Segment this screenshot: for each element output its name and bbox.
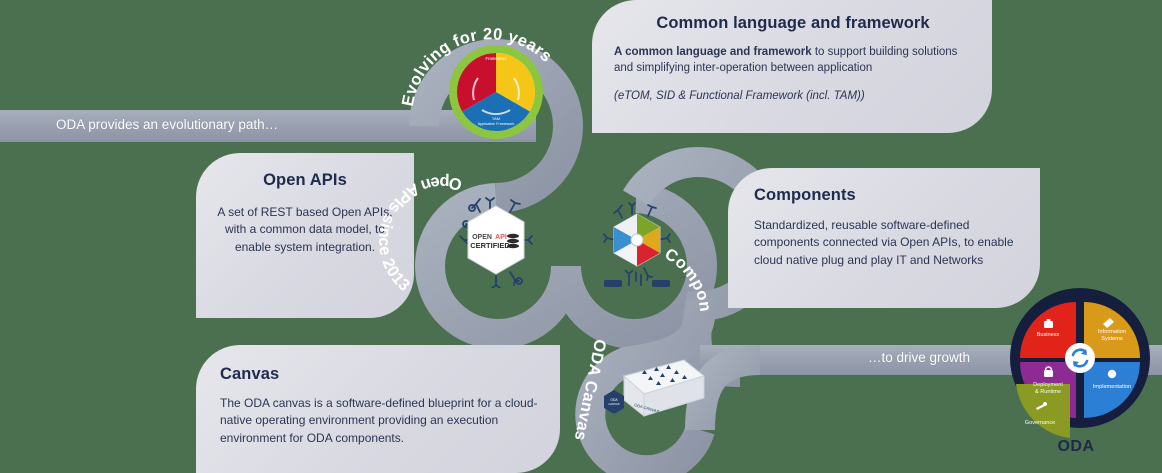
banner-evolutionary-path: ODA provides an evolutionary path… — [56, 117, 278, 132]
ribbon-curved-labels: Evolving for 20 years Open APIs since 20… — [0, 0, 1162, 473]
components-base-glyph — [604, 270, 670, 287]
svg-text:Systems: Systems — [1101, 336, 1123, 342]
svg-text:Application Framework: Application Framework — [478, 122, 515, 126]
frameworx-wheel-icon[interactable]: Frameworx TAM Application Framework — [448, 44, 544, 140]
oda-label-implementation: Implementation — [1093, 384, 1131, 390]
open-api-line1-plain: OPEN — [472, 234, 492, 241]
oda-label-information-systems: Information — [1098, 329, 1126, 335]
oda-center-disc — [1065, 343, 1095, 373]
svg-text:& Runtime: & Runtime — [1035, 389, 1061, 395]
open-api-stack-glyph — [507, 234, 519, 248]
oda-label-deployment-runtime: Deployment — [1033, 382, 1063, 388]
oda-label-governance: Governance — [1025, 420, 1055, 426]
oda-components-hexagon-icon[interactable] — [596, 200, 678, 292]
banner-drive-growth: …to drive growth — [868, 350, 970, 365]
svg-text:TAM: TAM — [492, 116, 500, 121]
open-api-certified-hexagon-icon[interactable]: OPEN API CERTIFIED — [452, 196, 540, 288]
oda-canvas-platform-icon[interactable]: ODA CANVAS ODA CANVAS — [590, 352, 708, 432]
oda-wheel-icon[interactable]: Business Information Systems Implementat… — [1000, 288, 1152, 440]
oda-wheel-caption: ODA — [1000, 438, 1152, 456]
diagram-canvas: Evolving for 20 years Open APIs since 20… — [0, 0, 1162, 473]
open-api-line1-accent: API — [495, 234, 507, 241]
oda-label-business: Business — [1037, 332, 1060, 338]
open-api-line2: CERTIFIED — [470, 241, 510, 250]
frameworx-top-label: Frameworx — [486, 56, 508, 61]
curved-label-openapis-since: Open APIs since 2013 — [375, 173, 464, 295]
svg-text:CANVAS: CANVAS — [608, 402, 619, 406]
